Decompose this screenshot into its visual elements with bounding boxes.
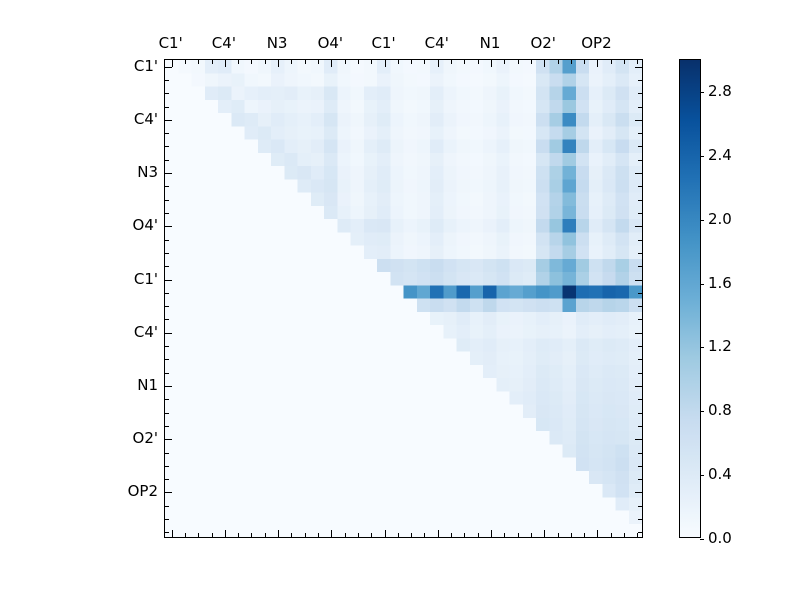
x-tick-14: [358, 60, 359, 64]
y-tick-3: [165, 107, 169, 108]
y-tick-27: [638, 426, 642, 427]
y-tick-17: [165, 293, 169, 294]
x-tick-label-1: C4': [212, 34, 236, 52]
x-tick-15: [371, 533, 372, 537]
y-tick-12: [165, 226, 172, 227]
y-tick-19: [638, 319, 642, 320]
x-tick-31: [584, 60, 585, 64]
x-tick-25: [504, 60, 505, 64]
x-tick-13: [345, 60, 346, 64]
x-tick-24: [491, 60, 492, 67]
x-tick-22: [464, 60, 465, 64]
x-tick-label-2: N3: [267, 34, 288, 52]
x-tick-15: [371, 60, 372, 64]
y-tick-22: [165, 359, 169, 360]
y-tick-12: [635, 226, 642, 227]
y-tick-0: [635, 67, 642, 68]
colorbar-tick-2: [700, 411, 704, 412]
x-tick-16: [385, 60, 386, 67]
x-tick-3: [212, 533, 213, 537]
y-tick-29: [638, 453, 642, 454]
x-tick-32: [597, 530, 598, 537]
figure-canvas: C1'C4'N3O4'C1'C4'N1O2'OP2 C1'C4'N3O4'C1'…: [0, 0, 800, 600]
x-tick-2: [198, 533, 199, 537]
x-tick-23: [478, 533, 479, 537]
colorbar-tick-label-4: 1.6: [708, 274, 732, 292]
x-tick-6: [251, 60, 252, 64]
x-tick-11: [318, 60, 319, 64]
y-tick-5: [165, 133, 169, 134]
x-tick-3: [212, 60, 213, 64]
y-tick-20: [165, 333, 172, 334]
x-tick-label-5: C4': [425, 34, 449, 52]
x-tick-label-0: C1': [159, 34, 183, 52]
x-tick-19: [424, 60, 425, 64]
y-tick-label-4: C1': [134, 270, 158, 288]
x-tick-33: [611, 60, 612, 64]
x-tick-30: [571, 60, 572, 64]
y-tick-25: [638, 399, 642, 400]
colorbar-tick-7: [700, 92, 704, 93]
y-tick-26: [165, 413, 169, 414]
x-tick-4: [225, 530, 226, 537]
colorbar[interactable]: [679, 59, 701, 538]
x-tick-label-3: O4': [318, 34, 343, 52]
x-tick-20: [438, 60, 439, 67]
colorbar-tick-1: [700, 475, 704, 476]
y-tick-6: [165, 146, 169, 147]
colorbar-tick-label-7: 2.8: [708, 82, 732, 100]
x-tick-21: [451, 60, 452, 64]
x-tick-20: [438, 530, 439, 537]
y-tick-25: [165, 399, 169, 400]
y-tick-5: [638, 133, 642, 134]
y-tick-10: [165, 200, 169, 201]
x-tick-label-6: N1: [480, 34, 501, 52]
y-tick-8: [165, 173, 172, 174]
x-tick-35: [637, 533, 638, 537]
x-tick-6: [251, 533, 252, 537]
y-tick-28: [165, 439, 172, 440]
x-tick-7: [265, 533, 266, 537]
x-tick-label-4: C1': [371, 34, 395, 52]
y-tick-8: [635, 173, 642, 174]
y-tick-2: [165, 93, 169, 94]
y-tick-1: [165, 80, 169, 81]
y-tick-15: [638, 266, 642, 267]
y-tick-18: [638, 306, 642, 307]
y-tick-18: [165, 306, 169, 307]
y-tick-11: [165, 213, 169, 214]
y-tick-label-1: C4': [134, 110, 158, 128]
y-tick-label-2: N3: [137, 163, 158, 181]
y-tick-31: [638, 479, 642, 480]
x-tick-4: [225, 60, 226, 67]
y-tick-30: [165, 466, 169, 467]
y-tick-13: [165, 240, 169, 241]
colorbar-tick-label-2: 0.8: [708, 401, 732, 419]
x-tick-5: [238, 60, 239, 64]
x-tick-26: [518, 60, 519, 64]
y-tick-14: [165, 253, 169, 254]
y-tick-21: [638, 346, 642, 347]
x-tick-17: [398, 60, 399, 64]
y-tick-33: [638, 506, 642, 507]
y-tick-4: [165, 120, 172, 121]
y-tick-0: [165, 67, 172, 68]
y-tick-22: [638, 359, 642, 360]
x-tick-29: [558, 533, 559, 537]
colorbar-tick-6: [700, 156, 704, 157]
y-tick-label-3: O4': [133, 216, 158, 234]
y-tick-28: [635, 439, 642, 440]
y-tick-23: [638, 373, 642, 374]
y-tick-6: [638, 146, 642, 147]
colorbar-tick-4: [700, 284, 704, 285]
y-tick-34: [638, 519, 642, 520]
x-tick-34: [624, 533, 625, 537]
y-tick-label-7: O2': [133, 429, 158, 447]
colorbar-tick-0: [700, 539, 704, 540]
y-tick-label-8: OP2: [128, 482, 158, 500]
x-tick-18: [411, 533, 412, 537]
x-tick-label-7: O2': [530, 34, 555, 52]
y-tick-label-5: C4': [134, 323, 158, 341]
y-tick-23: [165, 373, 169, 374]
y-tick-7: [638, 160, 642, 161]
x-tick-17: [398, 533, 399, 537]
y-tick-14: [638, 253, 642, 254]
y-tick-2: [638, 93, 642, 94]
colorbar-tick-label-0: 0.0: [708, 529, 732, 547]
x-tick-10: [305, 60, 306, 64]
x-tick-18: [411, 60, 412, 64]
x-tick-24: [491, 530, 492, 537]
y-tick-29: [165, 453, 169, 454]
x-tick-29: [558, 60, 559, 64]
y-tick-3: [638, 107, 642, 108]
x-tick-33: [611, 533, 612, 537]
x-tick-16: [385, 530, 386, 537]
x-tick-7: [265, 60, 266, 64]
y-tick-35: [638, 532, 642, 533]
y-tick-34: [165, 519, 169, 520]
y-tick-9: [638, 186, 642, 187]
y-tick-20: [635, 333, 642, 334]
y-tick-label-6: N1: [137, 376, 158, 394]
x-tick-10: [305, 533, 306, 537]
x-tick-19: [424, 533, 425, 537]
x-tick-23: [478, 60, 479, 64]
x-tick-21: [451, 533, 452, 537]
heatmap-axes[interactable]: [164, 59, 643, 538]
x-tick-5: [238, 533, 239, 537]
y-tick-19: [165, 319, 169, 320]
y-tick-16: [165, 280, 172, 281]
x-tick-1: [185, 60, 186, 64]
y-tick-33: [165, 506, 169, 507]
x-tick-12: [331, 60, 332, 67]
y-tick-32: [635, 492, 642, 493]
x-tick-28: [544, 60, 545, 67]
x-tick-27: [531, 533, 532, 537]
x-tick-27: [531, 60, 532, 64]
x-tick-8: [278, 530, 279, 537]
x-tick-8: [278, 60, 279, 67]
x-tick-22: [464, 533, 465, 537]
x-tick-0: [172, 530, 173, 537]
x-tick-25: [504, 533, 505, 537]
x-tick-11: [318, 533, 319, 537]
x-tick-35: [637, 60, 638, 64]
y-tick-30: [638, 466, 642, 467]
y-tick-24: [165, 386, 172, 387]
y-tick-16: [635, 280, 642, 281]
x-tick-31: [584, 533, 585, 537]
y-tick-label-0: C1': [134, 57, 158, 75]
x-tick-9: [291, 60, 292, 64]
y-tick-9: [165, 186, 169, 187]
x-tick-13: [345, 533, 346, 537]
y-tick-4: [635, 120, 642, 121]
colorbar-tick-label-1: 0.4: [708, 465, 732, 483]
x-tick-label-8: OP2: [581, 34, 611, 52]
x-tick-32: [597, 60, 598, 67]
y-tick-7: [165, 160, 169, 161]
colorbar-tick-5: [700, 220, 704, 221]
y-tick-1: [638, 80, 642, 81]
y-tick-10: [638, 200, 642, 201]
y-tick-13: [638, 240, 642, 241]
x-tick-28: [544, 530, 545, 537]
y-tick-15: [165, 266, 169, 267]
x-tick-2: [198, 60, 199, 64]
x-tick-26: [518, 533, 519, 537]
y-tick-24: [635, 386, 642, 387]
y-tick-11: [638, 213, 642, 214]
y-tick-27: [165, 426, 169, 427]
colorbar-gradient: [680, 60, 700, 537]
x-tick-14: [358, 533, 359, 537]
x-tick-1: [185, 533, 186, 537]
y-tick-26: [638, 413, 642, 414]
y-tick-32: [165, 492, 172, 493]
y-tick-17: [638, 293, 642, 294]
colorbar-tick-label-6: 2.4: [708, 146, 732, 164]
heatmap-image[interactable]: [165, 60, 642, 537]
y-tick-21: [165, 346, 169, 347]
y-tick-35: [165, 532, 169, 533]
x-tick-34: [624, 60, 625, 64]
x-tick-12: [331, 530, 332, 537]
x-tick-30: [571, 533, 572, 537]
colorbar-tick-label-5: 2.0: [708, 210, 732, 228]
x-tick-9: [291, 533, 292, 537]
colorbar-tick-3: [700, 347, 704, 348]
colorbar-tick-label-3: 1.2: [708, 337, 732, 355]
y-tick-31: [165, 479, 169, 480]
